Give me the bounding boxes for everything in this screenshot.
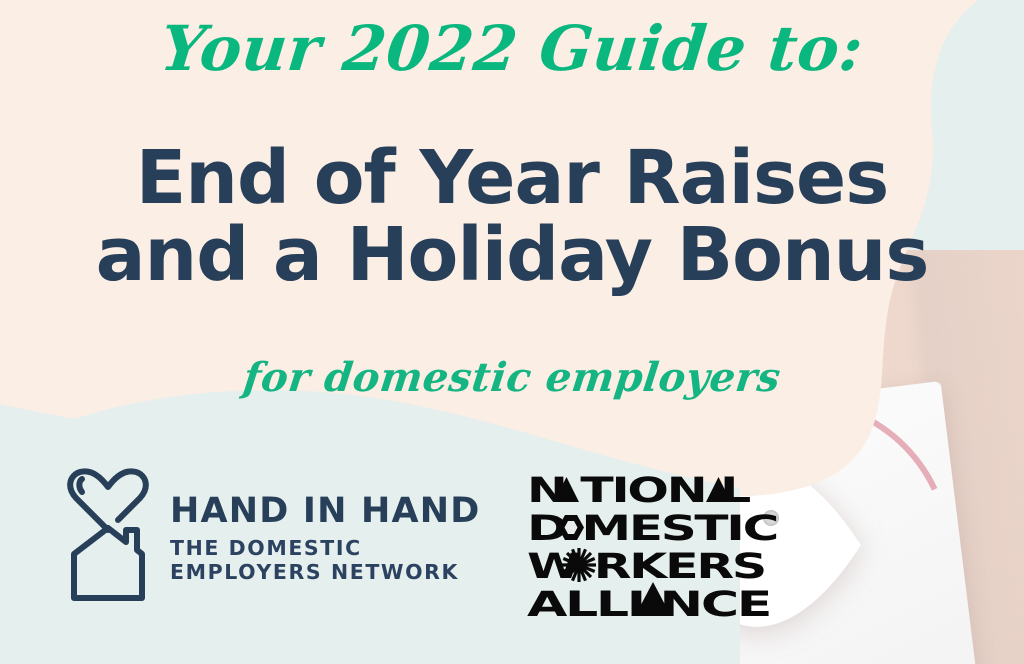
hih-tagline-line-2: EMPLOYERS NETWORK: [170, 562, 481, 583]
hih-name: HAND IN HAND: [170, 494, 481, 529]
page-title: End of Year Raises and a Holiday Bonus: [0, 143, 1024, 291]
heart-house-icon: [64, 468, 152, 608]
poster-canvas: Your 2022 Guide to: End of Year Raises a…: [0, 0, 1024, 664]
poster-content: Your 2022 Guide to: End of Year Raises a…: [0, 0, 1024, 664]
hand-in-hand-wordmark: HAND IN HAND THE DOMESTIC EMPLOYERS NETW…: [170, 494, 481, 583]
eyebrow-text: Your 2022 Guide to:: [0, 18, 1024, 80]
ndwa-logo: N TION L D MESTIC W RKERS: [527, 474, 777, 624]
subtitle-text: for domestic employers: [0, 358, 1024, 398]
hand-in-hand-logo: HAND IN HAND THE DOMESTIC EMPLOYERS NETW…: [64, 468, 481, 608]
hih-tagline: THE DOMESTIC EMPLOYERS NETWORK: [170, 538, 481, 583]
headline-line-1: End of Year Raises: [136, 135, 889, 221]
headline-line-2: and a Holiday Bonus: [0, 220, 1024, 291]
ndwa-line-3-text: W RKERS: [527, 547, 765, 587]
hih-tagline-line-1: THE DOMESTIC: [170, 536, 362, 560]
ndwa-starburst-o: [562, 548, 596, 582]
